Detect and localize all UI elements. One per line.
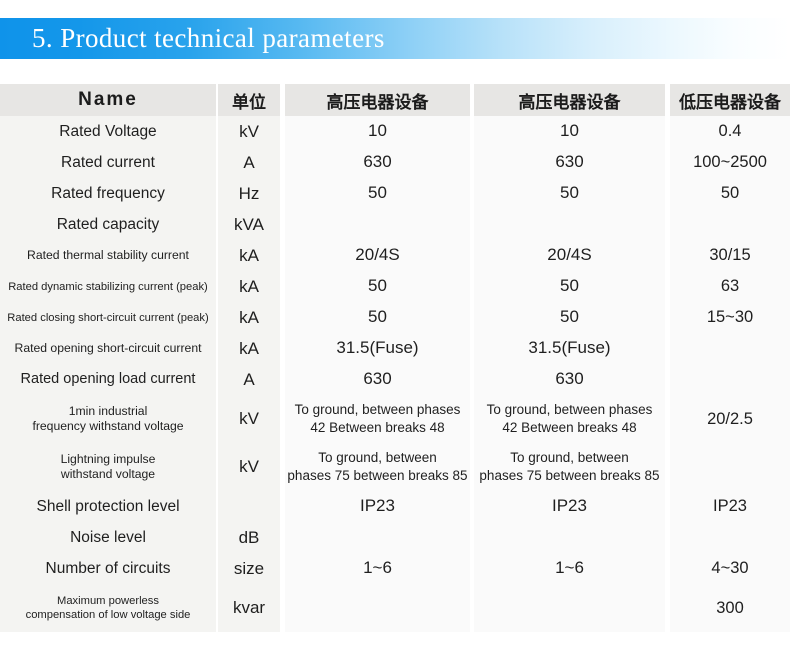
cell-device-2: To ground, between phases42 Between brea… xyxy=(474,395,665,443)
cell-device-3 xyxy=(670,443,790,491)
table-row: Rated closing short-circuit current (pea… xyxy=(0,302,790,333)
cell-parameter-name: Rated thermal stability current xyxy=(0,240,216,271)
header-unit: 单位 xyxy=(218,84,280,116)
table-row: Shell protection levelIP23IP23IP23 xyxy=(0,491,790,522)
header-name: Name xyxy=(0,84,216,116)
spacer-cell xyxy=(0,632,790,642)
cell-device-1: 10 xyxy=(285,116,470,147)
cell-device-3: 63 xyxy=(670,271,790,302)
cell-device-2 xyxy=(474,209,665,240)
cell-device-2: To ground, betweenphases 75 between brea… xyxy=(474,443,665,491)
product-spec-page: 5. Product technical parameters Name 单位 … xyxy=(0,0,790,650)
cell-device-2: 50 xyxy=(474,271,665,302)
spec-table-body: Rated VoltagekV10100.4Rated currentA6306… xyxy=(0,116,790,642)
cell-device-2: 31.5(Fuse) xyxy=(474,333,665,364)
table-row: Maximum powerlesscompensation of low vol… xyxy=(0,584,790,632)
cell-parameter-name: Rated dynamic stabilizing current (peak) xyxy=(0,271,216,302)
cell-device-3: 15~30 xyxy=(670,302,790,333)
table-row: Rated thermal stability currentkA20/4S20… xyxy=(0,240,790,271)
cell-unit: kA xyxy=(218,271,280,302)
cell-device-2: 1~6 xyxy=(474,553,665,584)
cell-parameter-name: Rated current xyxy=(0,147,216,178)
cell-parameter-name: Maximum powerlesscompensation of low vol… xyxy=(0,584,216,632)
cell-device-1: 50 xyxy=(285,302,470,333)
cell-unit: size xyxy=(218,553,280,584)
cell-unit: kvar xyxy=(218,584,280,632)
cell-parameter-name: Rated opening load current xyxy=(0,364,216,395)
cell-parameter-name: Rated opening short-circuit current xyxy=(0,333,216,364)
cell-unit: kV xyxy=(218,395,280,443)
cell-parameter-name: Rated frequency xyxy=(0,178,216,209)
cell-device-2: 20/4S xyxy=(474,240,665,271)
cell-device-3 xyxy=(670,209,790,240)
cell-device-2: 50 xyxy=(474,178,665,209)
cell-device-1: 630 xyxy=(285,147,470,178)
table-header-row: Name 单位 高压电器设备 高压电器设备 低压电器设备 xyxy=(0,84,790,116)
cell-device-1: 1~6 xyxy=(285,553,470,584)
table-bottom-spacer xyxy=(0,632,790,642)
cell-unit: A xyxy=(218,147,280,178)
cell-device-1 xyxy=(285,584,470,632)
cell-device-3 xyxy=(670,522,790,553)
cell-device-1: To ground, betweenphases 75 between brea… xyxy=(285,443,470,491)
cell-device-1: To ground, between phases42 Between brea… xyxy=(285,395,470,443)
cell-unit xyxy=(218,491,280,522)
spec-table: Name 单位 高压电器设备 高压电器设备 低压电器设备 Rated Volta… xyxy=(0,84,790,642)
cell-device-1: IP23 xyxy=(285,491,470,522)
table-row: Lightning impulsewithstand voltagekVTo g… xyxy=(0,443,790,491)
table-row: 1min industrialfrequency withstand volta… xyxy=(0,395,790,443)
cell-device-3: 0.4 xyxy=(670,116,790,147)
cell-device-1 xyxy=(285,522,470,553)
table-row: Number of circuitssize1~61~64~30 xyxy=(0,553,790,584)
cell-device-3 xyxy=(670,364,790,395)
cell-unit: kVA xyxy=(218,209,280,240)
cell-parameter-name: Rated Voltage xyxy=(0,116,216,147)
cell-parameter-name: Rated capacity xyxy=(0,209,216,240)
cell-device-3: 4~30 xyxy=(670,553,790,584)
cell-parameter-name: Shell protection level xyxy=(0,491,216,522)
spec-table-wrap: Name 单位 高压电器设备 高压电器设备 低压电器设备 Rated Volta… xyxy=(0,84,790,642)
cell-device-3: 300 xyxy=(670,584,790,632)
cell-device-3: IP23 xyxy=(670,491,790,522)
cell-parameter-name: Lightning impulsewithstand voltage xyxy=(0,443,216,491)
table-row: Noise leveldB xyxy=(0,522,790,553)
cell-unit: Hz xyxy=(218,178,280,209)
table-row: Rated opening load currentA630630 xyxy=(0,364,790,395)
cell-device-1 xyxy=(285,209,470,240)
table-row: Rated dynamic stabilizing current (peak)… xyxy=(0,271,790,302)
header-device-2: 高压电器设备 xyxy=(474,84,665,116)
header-device-1: 高压电器设备 xyxy=(285,84,470,116)
cell-device-2: 630 xyxy=(474,364,665,395)
cell-device-1: 50 xyxy=(285,271,470,302)
cell-parameter-name: 1min industrialfrequency withstand volta… xyxy=(0,395,216,443)
header-device-3: 低压电器设备 xyxy=(670,84,790,116)
cell-unit: kV xyxy=(218,443,280,491)
page-title: 5. Product technical parameters xyxy=(0,25,385,52)
table-row: Rated VoltagekV10100.4 xyxy=(0,116,790,147)
cell-device-2: 630 xyxy=(474,147,665,178)
cell-device-2: 10 xyxy=(474,116,665,147)
cell-unit: kV xyxy=(218,116,280,147)
cell-device-2: 50 xyxy=(474,302,665,333)
cell-unit: kA xyxy=(218,240,280,271)
cell-device-3 xyxy=(670,333,790,364)
cell-device-1: 50 xyxy=(285,178,470,209)
cell-parameter-name: Rated closing short-circuit current (pea… xyxy=(0,302,216,333)
cell-parameter-name: Noise level xyxy=(0,522,216,553)
cell-device-2: IP23 xyxy=(474,491,665,522)
cell-device-3: 30/15 xyxy=(670,240,790,271)
cell-parameter-name: Number of circuits xyxy=(0,553,216,584)
table-row: Rated frequencyHz505050 xyxy=(0,178,790,209)
cell-device-2 xyxy=(474,584,665,632)
cell-unit: A xyxy=(218,364,280,395)
cell-unit: kA xyxy=(218,333,280,364)
cell-unit: kA xyxy=(218,302,280,333)
cell-device-3: 50 xyxy=(670,178,790,209)
table-row: Rated capacitykVA xyxy=(0,209,790,240)
cell-device-2 xyxy=(474,522,665,553)
cell-device-3: 20/2.5 xyxy=(670,395,790,443)
cell-unit: dB xyxy=(218,522,280,553)
cell-device-3: 100~2500 xyxy=(670,147,790,178)
cell-device-1: 31.5(Fuse) xyxy=(285,333,470,364)
table-row: Rated currentA630630100~2500 xyxy=(0,147,790,178)
cell-device-1: 20/4S xyxy=(285,240,470,271)
section-banner: 5. Product technical parameters xyxy=(0,18,790,59)
cell-device-1: 630 xyxy=(285,364,470,395)
table-row: Rated opening short-circuit currentkA31.… xyxy=(0,333,790,364)
